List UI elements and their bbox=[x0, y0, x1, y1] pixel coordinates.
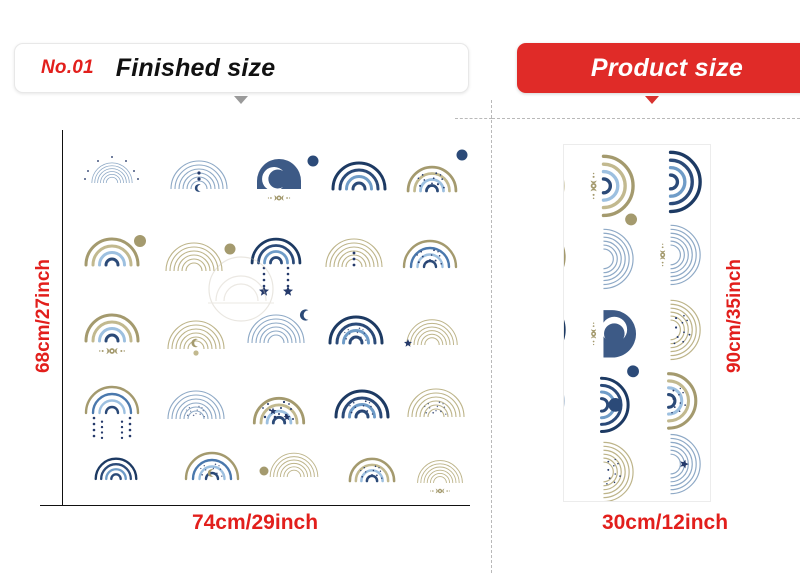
decal-rainbow bbox=[404, 241, 456, 267]
finished-height-label: 68cm/27inch bbox=[33, 236, 55, 396]
decal-rainbow bbox=[333, 163, 385, 189]
decal-rainbow bbox=[252, 239, 300, 296]
product-size-header-badge: Product size bbox=[517, 43, 800, 93]
finished-width-label: 74cm/29inch bbox=[110, 511, 400, 535]
decal-rainbow bbox=[86, 315, 138, 354]
section-number: No.01 bbox=[41, 57, 94, 79]
horizontal-dashed-guide-left bbox=[455, 118, 492, 119]
decal-rainbow bbox=[254, 398, 303, 423]
vertical-dashed-divider bbox=[491, 100, 492, 573]
decal-rainbow bbox=[96, 459, 137, 479]
product-size-decal-sheet bbox=[563, 144, 711, 502]
decal-moon-arch bbox=[257, 156, 319, 201]
decal-rainbow bbox=[336, 391, 388, 417]
decal-rainbow bbox=[86, 235, 146, 265]
decal-rainbow bbox=[186, 453, 238, 479]
section-title-finished-size: Finished size bbox=[116, 54, 276, 83]
product-width-label: 30cm/12inch bbox=[520, 511, 800, 535]
decal-rainbow bbox=[326, 239, 382, 267]
decal-rainbow bbox=[84, 156, 139, 183]
measure-rule-horizontal bbox=[40, 505, 470, 506]
decal-rainbow bbox=[168, 321, 224, 356]
decal-rainbow bbox=[86, 387, 138, 439]
decal-rainbow bbox=[408, 389, 464, 417]
finished-size-header-card: No.01 Finished size bbox=[14, 43, 469, 93]
decal-rainbow bbox=[248, 309, 308, 343]
decal-rainbow bbox=[418, 461, 463, 494]
decal-rainbow bbox=[408, 150, 467, 192]
decal-rainbow bbox=[168, 391, 224, 419]
caret-down-icon-right bbox=[645, 96, 659, 104]
decal-rainbow bbox=[260, 453, 318, 477]
infographic-canvas: No.01 Finished size Product size 68cm/27… bbox=[0, 0, 800, 573]
section-title-product-size: Product size bbox=[591, 54, 743, 83]
decal-rainbow bbox=[171, 161, 227, 192]
horizontal-dashed-guide-right bbox=[492, 118, 800, 119]
decal-rainbow bbox=[166, 243, 236, 271]
star-strand bbox=[259, 267, 293, 296]
measure-rule-vertical bbox=[62, 130, 63, 505]
finished-size-decal-sheet bbox=[64, 131, 468, 503]
decal-rainbow bbox=[404, 320, 457, 347]
caret-down-icon-left bbox=[234, 96, 248, 104]
decal-rainbow bbox=[330, 317, 382, 343]
product-height-label: 90cm/35inch bbox=[724, 236, 746, 396]
decal-rainbow bbox=[350, 459, 394, 481]
